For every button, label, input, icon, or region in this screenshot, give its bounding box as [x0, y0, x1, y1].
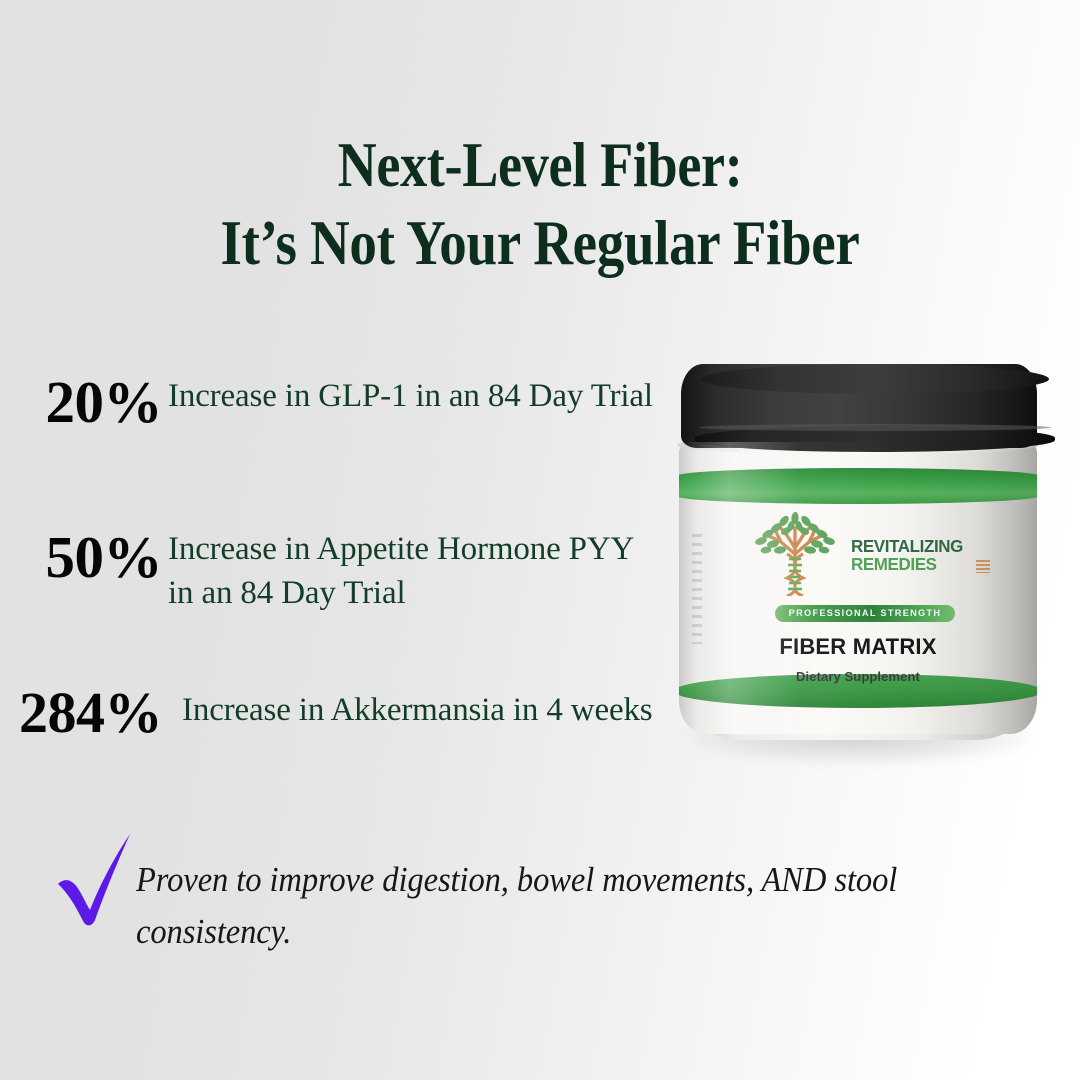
stat-percent: 50% [0, 528, 162, 587]
stats-list: 20% Increase in GLP-1 in an 84 Day Trial… [0, 372, 670, 837]
jar-body [679, 442, 1037, 734]
jar-lid-top-surface [701, 364, 1049, 394]
headline-line-2: It’s Not Your Regular Fiber [76, 204, 1005, 282]
promo-poster: Next-Level Fiber: It’s Not Your Regular … [0, 0, 1080, 1080]
stat-item: 20% Increase in GLP-1 in an 84 Day Trial [0, 372, 670, 527]
stat-percent: 284% [0, 684, 162, 742]
jar-lid [681, 364, 1037, 448]
stat-description: Increase in Appetite Hormone PYY in an 8… [168, 527, 663, 615]
stat-description: Increase in GLP-1 in an 84 Day Trial [168, 374, 663, 418]
stat-percent: 20% [0, 373, 162, 432]
jar-lid-seam [699, 424, 1051, 431]
page-title: Next-Level Fiber: It’s Not Your Regular … [0, 127, 1080, 282]
benefit-text: Proven to improve digestion, bowel movem… [136, 854, 1010, 958]
check-mark-icon [52, 834, 138, 930]
stat-item: 284% Increase in Akkermansia in 4 weeks [0, 682, 670, 837]
headline-line-1: Next-Level Fiber: [76, 127, 1005, 204]
stat-description: Increase in Akkermansia in 4 weeks [182, 688, 664, 732]
product-jar-image: REVITALIZING REMEDIES PROFESSIONAL STREN… [665, 358, 1055, 778]
jar-band-bottom [679, 674, 1037, 708]
jar-band-top [679, 468, 1037, 504]
stat-item: 50% Increase in Appetite Hormone PYY in … [0, 527, 670, 682]
